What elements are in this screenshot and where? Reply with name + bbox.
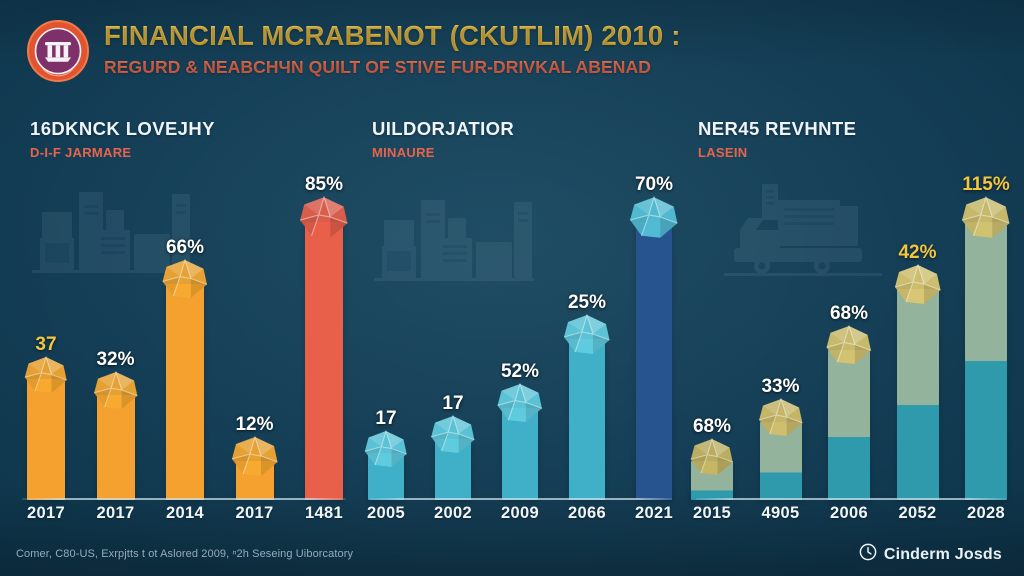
panel-title: 16DKNCK LOVEJHY xyxy=(30,118,215,140)
crystal-ornament-icon xyxy=(161,259,210,304)
panel-heading-2: NER45 REVHNTELASEIN xyxy=(698,118,856,160)
bar[interactable]: 42% xyxy=(897,289,939,500)
bar-value-label: 66% xyxy=(166,237,204,259)
bar[interactable]: 33% xyxy=(760,422,802,500)
panel-heading-0: 16DKNCK LOVEJHYD-I-F JARMARE xyxy=(30,118,215,160)
infographic-root: FINANCIAL MCRABENOT (CKUTLIM) 2010 : REG… xyxy=(0,0,1024,576)
bar-slot[interactable]: 66% xyxy=(165,170,205,500)
x-axis-labels-2: 20154905200620522028 xyxy=(692,504,1006,523)
bar-slot[interactable]: 25% xyxy=(567,170,607,500)
bar-slot[interactable]: 70% xyxy=(634,170,674,500)
crystal-ornament-icon xyxy=(960,196,1012,244)
crystal-ornament-icon xyxy=(92,371,140,415)
bar-slot[interactable]: 85% xyxy=(304,170,344,500)
bar-slot[interactable]: 33% xyxy=(761,170,801,500)
bar-slot[interactable]: 17 xyxy=(433,170,473,500)
panel-heading-1: UILDORJATIORMINAURE xyxy=(372,118,514,160)
bar[interactable]: 12% xyxy=(236,461,274,500)
bar[interactable]: 66% xyxy=(166,284,204,500)
crystal-ornament-icon xyxy=(757,398,805,442)
x-axis-tick-label: 2052 xyxy=(898,504,938,523)
clock-icon xyxy=(859,543,877,566)
bar-value-label: 68% xyxy=(830,303,868,325)
x-axis-tick-label: 4905 xyxy=(761,504,801,523)
bar-value-label: 70% xyxy=(635,174,673,196)
bar-group-0: 37 32% xyxy=(26,170,344,500)
x-axis-line xyxy=(22,498,346,500)
x-axis-tick-label: 1481 xyxy=(304,504,344,523)
footer-brand-text: Cinderm Josds xyxy=(884,546,1002,564)
header: FINANCIAL MCRABENOT (CKUTLIM) 2010 : REG… xyxy=(0,0,1024,96)
chart-panel-2: NER45 REVHNTELASEIN 68% xyxy=(682,104,1016,536)
bar-value-label: 17 xyxy=(375,408,396,430)
x-axis-line xyxy=(696,498,1006,500)
bar[interactable]: 52% xyxy=(502,408,538,500)
panel-subtitle: MINAURE xyxy=(372,145,514,160)
panel-subtitle: LASEIN xyxy=(698,145,856,160)
bar-value-label: 115% xyxy=(962,174,1010,196)
x-axis-tick-label: 2015 xyxy=(692,504,732,523)
x-axis-tick-label: 2021 xyxy=(634,504,674,523)
plot-area-0: 37 32% xyxy=(8,170,356,500)
bar[interactable]: 37 xyxy=(27,379,65,500)
x-axis-labels-0: 20172017201420171481 xyxy=(26,504,344,523)
title-block: FINANCIAL MCRABENOT (CKUTLIM) 2010 : REG… xyxy=(104,21,1004,78)
bar-slot[interactable]: 52% xyxy=(500,170,540,500)
bar-value-label: 32% xyxy=(96,349,134,371)
bar-value-label: 52% xyxy=(501,361,539,383)
bar-value-label: 37 xyxy=(35,334,56,356)
bar-slot[interactable]: 42% xyxy=(898,170,938,500)
bar-value-label: 85% xyxy=(305,174,343,196)
bar-value-label: 68% xyxy=(693,416,731,438)
bar-group-2: 68% 33% xyxy=(692,170,1006,500)
bar-value-label: 25% xyxy=(568,292,606,314)
bar[interactable]: 68% xyxy=(828,350,870,500)
page-subtitle: REGURD & NEABCHЧN QUILT OF STIVE FUR-DRI… xyxy=(104,57,1004,78)
bar-slot[interactable]: 68% xyxy=(692,170,732,500)
x-axis-tick-label: 2017 xyxy=(26,504,66,523)
bar-value-label: 42% xyxy=(898,242,936,264)
bar-value-label: 33% xyxy=(761,376,799,398)
crystal-ornament-icon xyxy=(562,314,613,360)
bar[interactable]: 115% xyxy=(965,222,1007,500)
crystal-ornament-icon xyxy=(229,436,280,482)
bar-slot[interactable]: 17 xyxy=(366,170,406,500)
bar-slot[interactable]: 115% xyxy=(966,170,1006,500)
bar[interactable]: 70% xyxy=(636,222,672,500)
bar-slot[interactable]: 12% xyxy=(235,170,275,500)
crystal-ornament-icon xyxy=(23,356,69,399)
x-axis-tick-label: 2066 xyxy=(567,504,607,523)
bar[interactable]: 25% xyxy=(569,339,605,500)
page-title: FINANCIAL MCRABENOT (CKUTLIM) 2010 : xyxy=(104,21,1004,52)
crystal-ornament-icon xyxy=(825,325,874,370)
crystal-ornament-icon xyxy=(628,196,680,244)
footer: Comer, C80-US, Exrpjtts t ot Aslored 200… xyxy=(0,536,1024,576)
x-axis-tick-label: 2009 xyxy=(500,504,540,523)
x-axis-tick-label: 2017 xyxy=(235,504,275,523)
x-axis-tick-label: 2006 xyxy=(829,504,869,523)
panel-subtitle: D-I-F JARMARE xyxy=(30,145,215,160)
chart-panel-0: 16DKNCK LOVEJHYD-I-F JARMARE 37 xyxy=(8,104,356,536)
bar[interactable]: 32% xyxy=(97,395,135,500)
x-axis-tick-label: 2017 xyxy=(96,504,136,523)
chart-panel-1: UILDORJATIORMINAURE 17 xyxy=(356,104,682,536)
bar-value-label: 17 xyxy=(442,393,463,415)
bar[interactable]: 17 xyxy=(368,453,404,500)
plot-area-2: 68% 33% xyxy=(682,170,1016,500)
footer-brand: Cinderm Josds xyxy=(859,543,1002,566)
bar-slot[interactable]: 68% xyxy=(829,170,869,500)
bar[interactable]: 17 xyxy=(435,439,471,500)
x-axis-line xyxy=(370,498,672,500)
x-axis-tick-label: 2014 xyxy=(165,504,205,523)
plot-area-1: 17 17 xyxy=(356,170,682,500)
bar-group-1: 17 17 xyxy=(366,170,674,500)
bar-slot[interactable]: 32% xyxy=(96,170,136,500)
crystal-ornament-icon xyxy=(496,383,545,428)
footer-source-text: Comer, C80-US, Exrpjtts t ot Aslored 200… xyxy=(16,548,353,560)
panel-title: UILDORJATIOR xyxy=(372,118,514,140)
x-axis-tick-label: 2002 xyxy=(433,504,473,523)
bar-value-label: 12% xyxy=(235,414,273,436)
x-axis-tick-label: 2028 xyxy=(966,504,1006,523)
crystal-ornament-icon xyxy=(689,438,735,481)
crystal-ornament-icon xyxy=(298,196,350,244)
circular-emblem-logo xyxy=(24,17,92,85)
panel-title: NER45 REVHNTE xyxy=(698,118,856,140)
x-axis-tick-label: 2005 xyxy=(366,504,406,523)
crystal-ornament-icon xyxy=(892,264,943,310)
x-axis-labels-1: 20052002200920662021 xyxy=(366,504,674,523)
bar[interactable]: 68% xyxy=(691,461,733,500)
crystal-ornament-icon xyxy=(429,415,477,459)
crystal-ornament-icon xyxy=(363,430,409,473)
bar-slot[interactable]: 37 xyxy=(26,170,66,500)
bar[interactable]: 85% xyxy=(305,222,343,500)
